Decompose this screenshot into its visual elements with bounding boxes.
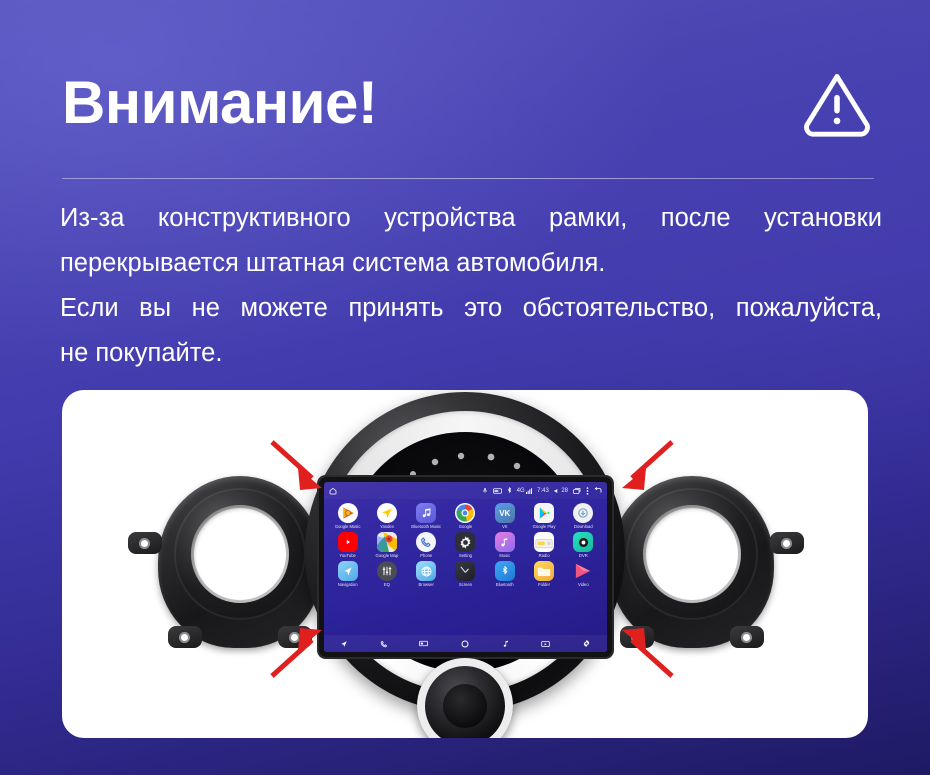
app-tile[interactable]: EQ bbox=[367, 561, 406, 588]
app-tile[interactable]: Radio bbox=[524, 532, 563, 559]
video-play-icon bbox=[573, 561, 593, 581]
app-label: Screen bbox=[446, 582, 485, 588]
overlap-marker-top-right bbox=[604, 438, 676, 500]
yandex-icon bbox=[377, 503, 397, 523]
signal-bars-icon bbox=[526, 488, 532, 494]
app-label: Google Music bbox=[328, 524, 367, 530]
app-label: Google Map bbox=[367, 553, 406, 559]
app-tile[interactable]: Download bbox=[564, 503, 603, 530]
app-label: Bluetooth Music bbox=[407, 524, 446, 530]
app-label: Folder bbox=[524, 582, 563, 588]
app-label: Browser bbox=[407, 582, 446, 588]
network-label: 4G bbox=[517, 488, 525, 494]
app-label: Setting bbox=[446, 553, 485, 559]
home-circle-icon[interactable] bbox=[460, 639, 470, 649]
app-label: Phone bbox=[407, 553, 446, 559]
app-tile[interactable]: YouTube bbox=[328, 532, 367, 559]
warning-line-3: Если вы не можете принять это обстоятель… bbox=[60, 286, 882, 331]
app-tile[interactable]: Google Map bbox=[367, 532, 406, 559]
app-tile[interactable]: Google Music bbox=[328, 503, 367, 530]
screen-clock-icon bbox=[455, 561, 475, 581]
clock-time: 7:43 bbox=[537, 488, 549, 494]
bluetooth-icon bbox=[507, 487, 512, 495]
overlap-marker-bottom-left bbox=[268, 618, 340, 680]
warning-line-4: не покупайте. bbox=[60, 331, 882, 376]
app-tile[interactable]: Yandex bbox=[367, 503, 406, 530]
page-title: Внимание! bbox=[62, 73, 377, 133]
warning-line-1: Из-за конструктивного устройства рамки, … bbox=[60, 196, 882, 241]
sd-card-icon bbox=[493, 488, 502, 494]
video-icon[interactable] bbox=[541, 640, 550, 648]
app-tile[interactable]: Bluetooth bbox=[485, 561, 524, 588]
android-head-unit-screen[interactable]: 4G 7:43 28 bbox=[324, 482, 607, 652]
back-icon[interactable] bbox=[594, 487, 602, 494]
app-label: EQ bbox=[367, 582, 406, 588]
app-tile[interactable]: Folder bbox=[524, 561, 563, 588]
app-label: Bluetooth bbox=[485, 582, 524, 588]
app-tile[interactable]: VK VK bbox=[485, 503, 524, 530]
left-mount-tab-outer bbox=[128, 532, 162, 554]
app-label: Radio bbox=[524, 553, 563, 559]
overlap-marker-bottom-right bbox=[604, 618, 676, 680]
google-play-icon bbox=[534, 503, 554, 523]
screen-dock-bar bbox=[324, 635, 607, 652]
warning-body-text: Из-за конструктивного устройства рамки, … bbox=[60, 196, 882, 376]
google-music-icon bbox=[338, 503, 358, 523]
volume-level: 28 bbox=[561, 488, 568, 494]
app-tile[interactable]: Music bbox=[485, 532, 524, 559]
app-tile[interactable]: Video bbox=[564, 561, 603, 588]
youtube-icon bbox=[338, 532, 358, 552]
app-label: VK bbox=[485, 524, 524, 530]
google-maps-icon bbox=[377, 532, 397, 552]
app-tile[interactable]: Google Play bbox=[524, 503, 563, 530]
app-tile[interactable]: DVR bbox=[564, 532, 603, 559]
vk-icon: VK bbox=[495, 503, 515, 523]
phone-icon[interactable] bbox=[380, 640, 388, 648]
right-housing-aperture bbox=[643, 505, 741, 603]
app-label: Video bbox=[564, 582, 603, 588]
phone-icon bbox=[416, 532, 436, 552]
warning-line-2: перекрывается штатная система автомобиля… bbox=[60, 241, 882, 286]
google-chrome-icon bbox=[455, 503, 475, 523]
left-mount-tab-lower bbox=[168, 626, 202, 648]
header-divider bbox=[62, 178, 874, 179]
globe-icon bbox=[416, 561, 436, 581]
volume-indicator: 28 bbox=[554, 488, 568, 494]
right-housing-ring bbox=[626, 488, 758, 620]
app-tile[interactable]: Browser bbox=[407, 561, 446, 588]
warning-triangle-icon bbox=[800, 66, 874, 140]
screen-status-bar: 4G 7:43 28 bbox=[324, 482, 607, 499]
app-tile[interactable]: Google bbox=[446, 503, 485, 530]
app-label: Music bbox=[485, 553, 524, 559]
product-photo-card: 4G 7:43 28 bbox=[62, 390, 868, 738]
recents-icon[interactable] bbox=[573, 488, 581, 494]
app-label: Yandex bbox=[367, 524, 406, 530]
equalizer-icon bbox=[377, 561, 397, 581]
download-icon bbox=[573, 503, 593, 523]
app-label: Navigation bbox=[328, 582, 367, 588]
gear-icon[interactable] bbox=[582, 639, 591, 648]
app-tile[interactable]: Setting bbox=[446, 532, 485, 559]
right-mount-tab-outer bbox=[770, 532, 804, 554]
gear-icon bbox=[455, 532, 475, 552]
network-status: 4G bbox=[517, 488, 533, 494]
app-tile[interactable]: Phone bbox=[407, 532, 446, 559]
left-housing-aperture bbox=[191, 505, 289, 603]
dvr-camera-icon bbox=[573, 532, 593, 552]
right-mount-tab-lower2 bbox=[730, 626, 764, 648]
app-tile[interactable]: Screen bbox=[446, 561, 485, 588]
app-label: Google Play bbox=[524, 524, 563, 530]
overflow-menu-icon[interactable] bbox=[586, 487, 589, 495]
page-header: Внимание! bbox=[62, 48, 874, 158]
navigation-arrow-icon bbox=[338, 561, 358, 581]
app-tile[interactable]: Navigation bbox=[328, 561, 367, 588]
folder-icon bbox=[534, 561, 554, 581]
head-unit-assembly: 4G 7:43 28 bbox=[62, 390, 868, 738]
app-label: DVR bbox=[564, 553, 603, 559]
app-label: Download bbox=[564, 524, 603, 530]
app-label: YouTube bbox=[328, 553, 367, 559]
radio-icon[interactable] bbox=[419, 640, 428, 647]
music-note-icon bbox=[495, 532, 515, 552]
app-grid: Google Music Yandex Bluetooth Music bbox=[324, 499, 607, 588]
volume-icon bbox=[554, 488, 560, 494]
music-note-icon[interactable] bbox=[502, 640, 510, 648]
app-label: Google bbox=[446, 524, 485, 530]
microphone-icon[interactable] bbox=[482, 487, 488, 494]
navigation-arrow-icon[interactable] bbox=[340, 640, 348, 648]
left-housing-ring bbox=[174, 488, 306, 620]
overlap-marker-top-left bbox=[268, 438, 340, 500]
bluetooth-music-icon bbox=[416, 503, 436, 523]
radio-icon bbox=[534, 532, 554, 552]
bluetooth-icon bbox=[495, 561, 515, 581]
app-tile[interactable]: Bluetooth Music bbox=[407, 503, 446, 530]
